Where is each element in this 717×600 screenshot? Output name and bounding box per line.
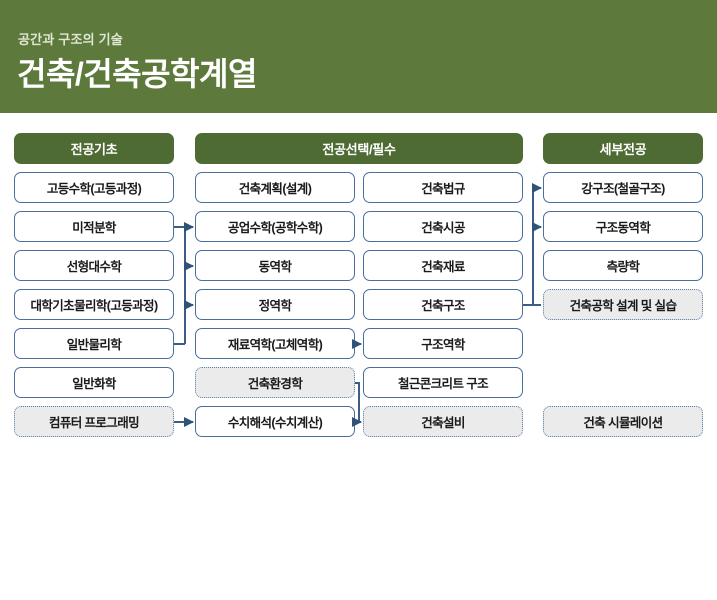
course-node[interactable]: 미적분학 xyxy=(14,211,174,242)
course-node[interactable]: 고등수학(고등과정) xyxy=(14,172,174,203)
course-node[interactable]: 공업수학(공학수학) xyxy=(195,211,355,242)
page-title: 건축/건축공학계열 xyxy=(17,49,257,95)
column-header-major-elective: 전공선택/필수 xyxy=(195,133,523,164)
course-node[interactable]: 측량학 xyxy=(543,250,703,281)
course-node[interactable]: 건축재료 xyxy=(363,250,523,281)
course-node[interactable]: 건축구조 xyxy=(363,289,523,320)
arrow-environment-to-facilities xyxy=(355,383,361,422)
course-node[interactable]: 재료역학(고체역학) xyxy=(195,328,355,359)
course-node[interactable]: 컴퓨터 프로그래밍 xyxy=(14,406,174,437)
course-node[interactable]: 건축법규 xyxy=(363,172,523,203)
page-banner: 공간과 구조의 기술 건축/건축공학계열 xyxy=(0,0,717,113)
course-node[interactable]: 건축공학 설계 및 실습 xyxy=(543,289,703,320)
course-node[interactable]: 건축 시뮬레이션 xyxy=(543,406,703,437)
course-node[interactable]: 선형대수학 xyxy=(14,250,174,281)
column-header-basic: 전공기초 xyxy=(14,133,174,164)
course-node[interactable]: 강구조(철골구조) xyxy=(543,172,703,203)
course-node[interactable]: 일반물리학 xyxy=(14,328,174,359)
course-node[interactable]: 건축계획(설계) xyxy=(195,172,355,203)
course-node[interactable]: 구조역학 xyxy=(363,328,523,359)
course-node[interactable]: 대학기초물리학(고등과정) xyxy=(14,289,174,320)
course-node[interactable]: 일반화학 xyxy=(14,367,174,398)
column-header-detail-major: 세부전공 xyxy=(543,133,703,164)
course-node[interactable]: 철근콘크리트 구조 xyxy=(363,367,523,398)
banner-subtitle: 공간과 구조의 기술 xyxy=(18,29,123,48)
course-node[interactable]: 건축시공 xyxy=(363,211,523,242)
course-node[interactable]: 동역학 xyxy=(195,250,355,281)
course-node[interactable]: 수치해석(수치계산) xyxy=(195,406,355,437)
course-node[interactable]: 건축환경학 xyxy=(195,367,355,398)
course-node[interactable]: 구조동역학 xyxy=(543,211,703,242)
course-node[interactable]: 정역학 xyxy=(195,289,355,320)
course-node[interactable]: 건축설비 xyxy=(363,406,523,437)
curriculum-diagram-page: 공간과 구조의 기술 건축/건축공학계열 전공기초 전공선택/필수 세부전공 고… xyxy=(0,0,717,600)
